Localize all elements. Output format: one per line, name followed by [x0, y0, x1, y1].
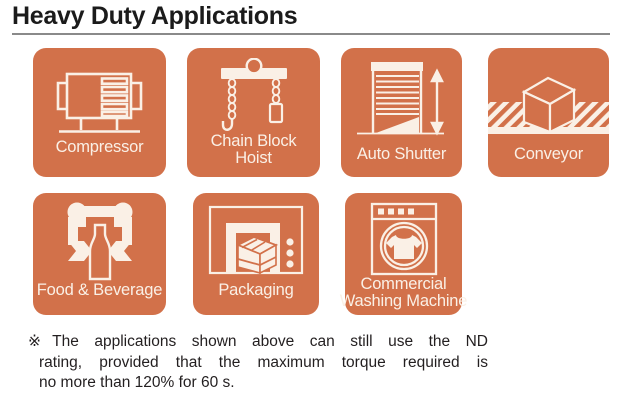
tile-packaging[interactable]: Packaging: [193, 193, 319, 315]
chain-block-hoist-icon: [187, 58, 320, 136]
tile-label: Commercial Washing Machine: [317, 276, 490, 310]
washing-machine-icon: [345, 199, 462, 279]
title-divider: [12, 33, 610, 35]
tile-compressor[interactable]: Compressor: [33, 48, 166, 177]
footnote: ※The applications shown above can still …: [28, 332, 488, 394]
bottling-machine-icon: [33, 201, 166, 283]
tile-label: Chain Block Hoist: [173, 133, 334, 167]
tile-food-beverage[interactable]: Food & Beverage: [33, 193, 166, 315]
conveyor-icon: [488, 60, 609, 142]
page-title: Heavy Duty Applications: [12, 2, 297, 31]
tile-label: Conveyor: [474, 146, 623, 163]
auto-shutter-icon: [341, 58, 462, 142]
reference-mark-icon: ※: [28, 333, 52, 350]
footnote-line-2: rating, provided that the maximum torque…: [28, 353, 488, 374]
packaging-box-icon: [193, 201, 319, 283]
footnote-line-3: no more than 120% for 60 s.: [28, 373, 488, 394]
tile-label: Compressor: [19, 139, 180, 156]
tile-washing-machine[interactable]: Commercial Washing Machine: [345, 193, 462, 315]
tile-chain-block-hoist[interactable]: Chain Block Hoist: [187, 48, 320, 177]
footnote-line-1: The applications shown above can still u…: [52, 333, 488, 350]
tile-label: Food & Beverage: [19, 282, 180, 299]
tile-label: Packaging: [179, 282, 333, 299]
tile-auto-shutter[interactable]: Auto Shutter: [341, 48, 462, 177]
tile-label: Auto Shutter: [327, 146, 476, 163]
compressor-icon: [33, 66, 166, 140]
tile-conveyor[interactable]: Conveyor: [488, 48, 609, 177]
